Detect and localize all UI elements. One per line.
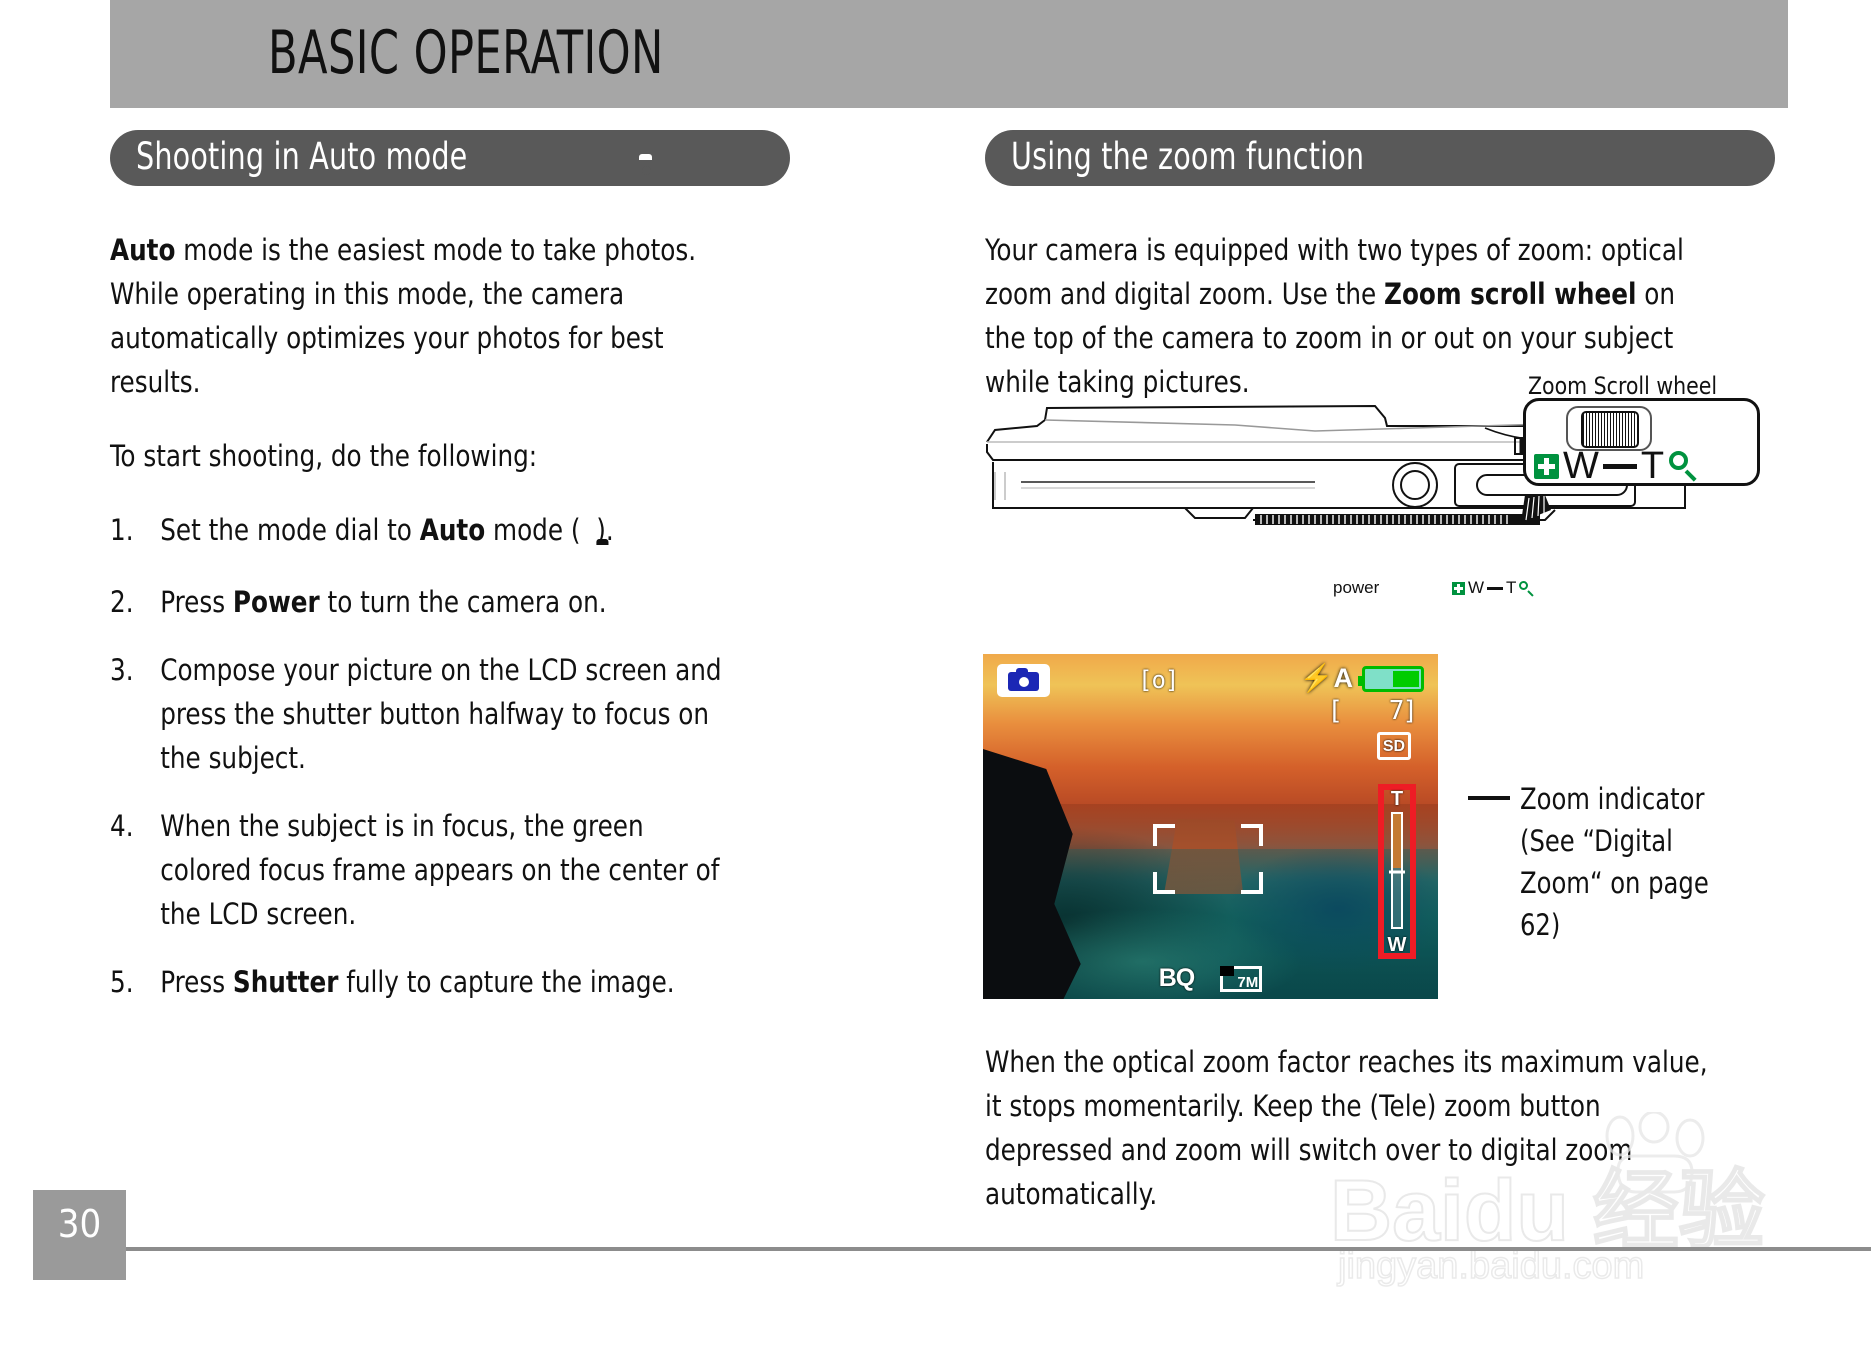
step-bold: Power: [233, 585, 320, 619]
step-text-pre: Press: [160, 585, 233, 619]
list-item: 3.Compose your picture on the LCD screen…: [110, 648, 742, 780]
list-item: 2.Press Power to turn the camera on.: [110, 580, 742, 624]
zoom-indicator-callout: Zoom indicator (See “Digital Zoom“ on pa…: [1520, 778, 1780, 946]
intro-bold-term: Auto: [110, 233, 175, 267]
wt-dash-divider: [1487, 587, 1503, 590]
step-number: 3.: [110, 648, 151, 692]
step-number: 5.: [110, 960, 151, 1004]
section-header-label: Shooting in Auto mode: [136, 135, 467, 178]
zoom-indicator-callout-line3: Zoom“ on page: [1520, 862, 1762, 904]
zoom-indicator-highlight: T W: [1378, 784, 1416, 959]
section-header-zoom-function: Using the zoom function: [985, 130, 1775, 186]
wide-tele-row: W T: [1534, 447, 1698, 485]
section-header-shooting-auto: Shooting in Auto mode: [110, 130, 790, 186]
step-bold: Auto: [420, 513, 485, 547]
zoom-scroll-wheel-callout-title: Zoom Scroll wheel: [1528, 372, 1717, 400]
resolution-icon: 7M: [1220, 966, 1262, 992]
intro-rest-text: mode is the easiest mode to take photos.…: [110, 233, 696, 399]
step-number: 2.: [110, 580, 151, 624]
wide-angle-icon: [1534, 454, 1559, 479]
focus-frame-icon: [1153, 824, 1263, 894]
footer-divider: [126, 1247, 1871, 1251]
zoom-wide-label: W: [1388, 934, 1407, 957]
lead-in-paragraph: To start shooting, do the following:: [110, 434, 742, 478]
shots-remaining-count: 7]: [1389, 696, 1416, 726]
wt-dash-divider: [1603, 464, 1637, 469]
list-item: 1.Set the mode dial to Auto mode ( ).: [110, 508, 742, 556]
list-item: 5.Press Shutter fully to capture the ima…: [110, 960, 742, 1004]
left-column: Shooting in Auto mode Auto mode is the e…: [110, 130, 790, 1028]
body-tele-letter: T: [1506, 578, 1516, 598]
page-title: BASIC OPERATION: [268, 18, 664, 88]
step-bold: Shutter: [233, 965, 338, 999]
quality-label: BQ: [1159, 964, 1195, 993]
page-banner: BASIC OPERATION: [110, 0, 1788, 108]
zoom-indicator-bar: T W: [1384, 790, 1410, 953]
step-text-pre: Press: [160, 965, 233, 999]
wide-angle-icon: [1452, 582, 1465, 595]
resolution-label: 7M: [1237, 974, 1258, 991]
step-number: 1.: [110, 508, 151, 552]
callout-leader-line: [1468, 796, 1510, 800]
closing-paragraph-wrap: When the optical zoom factor reaches its…: [985, 1040, 1775, 1246]
magnifier-icon: [1519, 581, 1534, 596]
zoom-indicator-callout-line2: (See “Digital: [1520, 820, 1762, 862]
metering-icon: [o]: [1138, 666, 1178, 694]
zoom-tele-label: T: [1391, 788, 1403, 811]
sd-card-icon: SD: [1377, 732, 1411, 760]
camera-mode-icon: [997, 664, 1050, 697]
body-wide-tele-label: W T: [1452, 578, 1534, 598]
magnifier-icon: [1668, 451, 1698, 481]
step-text-post: fully to capture the image.: [338, 965, 674, 999]
closing-paragraph: When the optical zoom factor reaches its…: [985, 1040, 1720, 1216]
page-number: 30: [33, 1202, 126, 1246]
steps-list: 1.Set the mode dial to Auto mode ( ). 2.…: [110, 508, 742, 1004]
step-text-pre: When the subject is in focus, the green …: [160, 809, 719, 931]
tele-letter: T: [1641, 447, 1664, 485]
shots-bracket-left: [: [1327, 696, 1343, 726]
lcd-screen-preview: [o] ⚡A [ 7] SD T W BQ 7M: [983, 654, 1438, 999]
step-text-post: to turn the camera on.: [320, 585, 607, 619]
power-button-label: power: [1333, 578, 1379, 598]
page-number-box: 30: [33, 1190, 126, 1280]
step-number: 4.: [110, 804, 151, 848]
lcd-bottom-status: BQ 7M: [983, 964, 1438, 993]
flash-auto-icon: ⚡A: [1300, 662, 1353, 694]
list-item: 4.When the subject is in focus, the gree…: [110, 804, 742, 936]
step-text-post: mode (: [485, 513, 588, 547]
zoom-indicator-callout-line1: Zoom indicator: [1520, 778, 1762, 820]
intro-paragraph: Auto mode is the easiest mode to take ph…: [110, 228, 742, 404]
body-wide-letter: W: [1468, 578, 1484, 598]
zoom-intro-bold: Zoom scroll wheel: [1384, 277, 1636, 311]
watermark-url: jingyan.baidu.com: [1338, 1245, 1644, 1288]
step-text-pre: Set the mode dial to: [160, 513, 420, 547]
step-text-pre: Compose your picture on the LCD screen a…: [160, 653, 721, 775]
flash-auto-label: A: [1334, 663, 1354, 693]
battery-full-icon: [1362, 666, 1424, 692]
wide-letter: W: [1563, 447, 1599, 485]
section-header-label: Using the zoom function: [1011, 135, 1364, 178]
zoom-scroll-wheel-callout: W T: [1523, 398, 1760, 486]
zoom-indicator-callout-line4: 62): [1520, 904, 1762, 946]
